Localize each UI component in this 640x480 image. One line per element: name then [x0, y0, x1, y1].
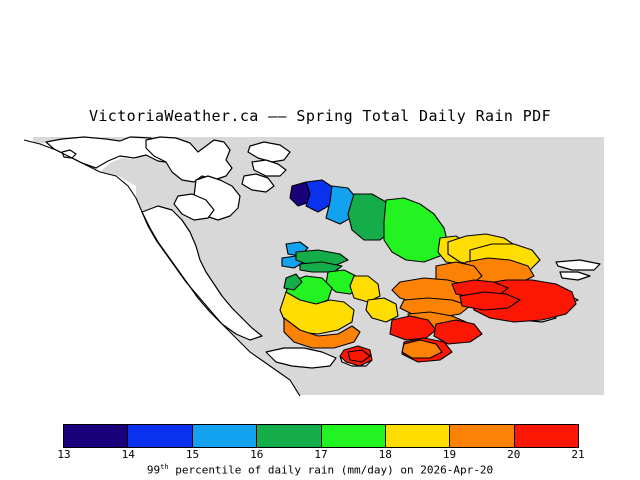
- chart-title: VictoriaWeather.ca —— Spring Total Daily…: [0, 107, 640, 125]
- colorbar-tick-17: 17: [314, 448, 327, 461]
- colorbar-segment-0: [64, 425, 128, 447]
- colorbar-segment-2: [193, 425, 257, 447]
- colorbar-tick-14: 14: [122, 448, 135, 461]
- map-svg: [0, 0, 640, 400]
- colorbar-tick-15: 15: [186, 448, 199, 461]
- colorbar-segment-6: [450, 425, 514, 447]
- colorbar: [63, 424, 579, 448]
- colorbar-tick-labels: 131415161718192021: [0, 448, 640, 462]
- map-panel: VictoriaWeather.ca —— Spring Total Daily…: [0, 0, 640, 400]
- caption-prefix: 99: [147, 464, 160, 477]
- colorbar-tick-21: 21: [571, 448, 584, 461]
- colorbar-tick-13: 13: [57, 448, 70, 461]
- caption-superscript: th: [160, 463, 168, 471]
- colorbar-tick-16: 16: [250, 448, 263, 461]
- colorbar-tick-19: 19: [443, 448, 456, 461]
- colorbar-segment-4: [322, 425, 386, 447]
- colorbar-panel: 131415161718192021 99th percentile of da…: [0, 424, 640, 480]
- caption-rest: percentile of daily rain (mm/day) on 202…: [169, 464, 494, 477]
- weather-map-figure: VictoriaWeather.ca —— Spring Total Daily…: [0, 0, 640, 480]
- colorbar-segment-1: [128, 425, 192, 447]
- colorbar-segment-5: [386, 425, 450, 447]
- colorbar-tick-20: 20: [507, 448, 520, 461]
- colorbar-segment-7: [515, 425, 578, 447]
- colorbar-caption: 99th percentile of daily rain (mm/day) o…: [0, 463, 640, 477]
- colorbar-tick-18: 18: [379, 448, 392, 461]
- colorbar-segment-3: [257, 425, 321, 447]
